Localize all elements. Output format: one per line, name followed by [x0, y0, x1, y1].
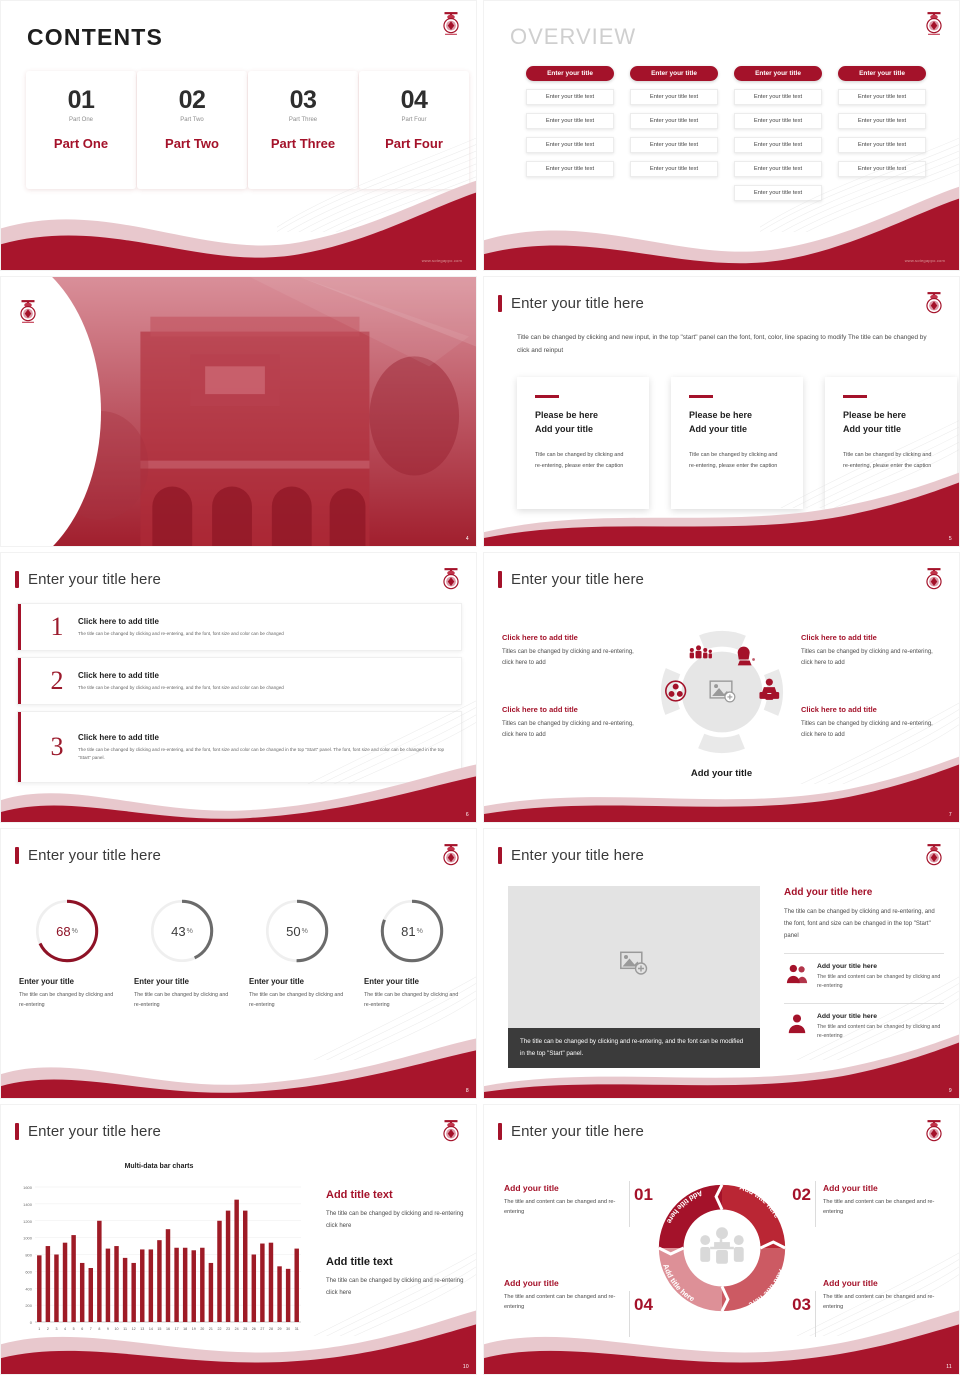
divider — [815, 1181, 816, 1227]
ring-item[interactable]: 43% Enter your title The title can be ch… — [134, 895, 230, 1011]
quadrant-desc: The title and content can be changed and… — [823, 1197, 941, 1217]
quadrant-title: Add your title — [504, 1183, 622, 1193]
card-number: 03 — [290, 88, 317, 113]
ring-desc: The title can be changed by clicking and… — [19, 991, 115, 1011]
ring-desc: The title can be changed by clicking and… — [134, 991, 230, 1011]
card-heading: Please be here Add your title — [843, 408, 939, 437]
svg-text:25: 25 — [243, 1327, 247, 1331]
card-heading: Please be here Add your title — [689, 408, 785, 437]
divider — [629, 1291, 630, 1337]
overview-item[interactable]: Enter your title text — [838, 161, 926, 177]
ring-value-wrap: 68% — [31, 895, 103, 967]
footer-url: www.sotegappo.com — [422, 258, 462, 263]
ring-title: Enter your title — [364, 977, 460, 986]
chart-side-panel: Add title text The title can be changed … — [326, 1189, 466, 1299]
card-label: Part Three — [271, 136, 335, 151]
callout-block[interactable]: Click here to add title Titles can be ch… — [502, 633, 642, 669]
page-title: Enter your title here — [511, 295, 644, 312]
slide-three-cards[interactable]: Enter your title here Title can be chang… — [483, 276, 960, 547]
person-icon — [786, 1013, 808, 1042]
svg-text:8: 8 — [98, 1327, 100, 1331]
title-accent-bar — [498, 571, 502, 588]
overview-column: Enter your title Enter your title text E… — [526, 66, 614, 201]
donut-diagram[interactable] — [653, 623, 791, 761]
footer-url: www.sotegappo.com — [905, 258, 945, 263]
callout-title: Click here to add title — [502, 633, 642, 642]
svg-text:1600: 1600 — [23, 1185, 33, 1190]
quadrant-text-04[interactable]: Add your title The title and content can… — [504, 1278, 622, 1312]
list-item-title: Add your title here — [817, 963, 944, 970]
progress-ring: 68% — [31, 895, 103, 967]
side-body-1: The title can be changed by clicking and… — [326, 1208, 466, 1232]
university-logo-icon — [440, 567, 462, 593]
slide-number: 10 — [463, 1364, 469, 1370]
page-header: Enter your title here — [498, 1123, 644, 1140]
slide-donut-diagram[interactable]: Enter your title here Click here to add … — [483, 552, 960, 823]
svg-text:18: 18 — [183, 1327, 187, 1331]
overview-item[interactable]: Enter your title text — [630, 113, 718, 129]
slide-numbered-list[interactable]: Enter your title here 1 Click here to ad… — [0, 552, 477, 823]
card-accent-dash — [535, 395, 559, 398]
title-accent-bar — [15, 847, 19, 864]
chart-plot-area: 0200400600800100012001400160012345678910… — [11, 1181, 307, 1338]
card-body: Title can be changed by clicking and re-… — [689, 450, 785, 471]
left-text-column: Click here to add title Titles can be ch… — [502, 633, 642, 777]
page-header: Enter your title here — [15, 571, 161, 588]
ring-value: 68 — [56, 924, 70, 939]
ring-desc: The title can be changed by clicking and… — [364, 991, 460, 1011]
page-header: Enter your title here — [15, 1123, 161, 1140]
list-number: 1 — [36, 615, 78, 638]
list-item-desc: The title can be changed by clicking and… — [78, 746, 451, 762]
overview-item[interactable]: Enter your title text — [734, 113, 822, 129]
list-item-desc: The title can be changed by clicking and… — [78, 684, 451, 692]
svg-text:16: 16 — [166, 1327, 170, 1331]
svg-text:14: 14 — [149, 1327, 153, 1331]
callout-desc: Titles can be changed by clicking and re… — [801, 719, 941, 741]
svg-text:10: 10 — [115, 1327, 119, 1331]
ring-value: 43 — [171, 924, 185, 939]
page-title: Enter your title here — [28, 571, 161, 588]
overview-item[interactable]: Enter your title text — [526, 89, 614, 105]
card-heading: Please be here Add your title — [535, 408, 631, 437]
ring-title: Enter your title — [249, 977, 345, 986]
overview-column: Enter your title Enter your title text E… — [734, 66, 822, 201]
svg-text:28: 28 — [269, 1327, 273, 1331]
slide-image-and-list[interactable]: Enter your title here The title can be c… — [483, 828, 960, 1099]
slide-grid: CONTENTS 01 Part One Part One 02 Part Tw… — [0, 0, 960, 1400]
list-item-title: Click here to add title — [78, 733, 451, 742]
svg-text:26: 26 — [252, 1327, 256, 1331]
card-subtitle: Part Four — [401, 117, 426, 123]
page-title: OVERVIEW — [510, 24, 636, 50]
callout-block[interactable]: Click here to add title Titles can be ch… — [801, 705, 941, 741]
university-logo-icon — [923, 291, 945, 317]
title-accent-bar — [15, 1123, 19, 1140]
callout-title: Click here to add title — [801, 705, 941, 714]
svg-text:22: 22 — [217, 1327, 221, 1331]
card-subtitle: Part Three — [289, 117, 317, 123]
quadrant-title: Add your title — [823, 1278, 941, 1288]
card-body: Title can be changed by clicking and re-… — [535, 450, 631, 471]
progress-ring: 81% — [376, 895, 448, 967]
overview-item[interactable]: Enter your title text — [838, 89, 926, 105]
slide-number: 9 — [949, 1088, 952, 1094]
list-item-desc: The title and content can be changed by … — [817, 1023, 944, 1042]
ring-unit: % — [72, 928, 78, 935]
two-people-icon — [786, 963, 808, 992]
ring-value: 81 — [401, 924, 415, 939]
slide-section-divider[interactable]: বনিতা বিশ্রাম 01 Part One ” Title can be… — [0, 276, 477, 547]
slide-number: 5 — [949, 536, 952, 542]
svg-text:800: 800 — [25, 1253, 32, 1258]
ring-value-wrap: 50% — [261, 895, 333, 967]
ring-item[interactable]: 68% Enter your title The title can be ch… — [19, 895, 115, 1011]
svg-text:0: 0 — [30, 1320, 33, 1325]
callout-title: Click here to add title — [502, 705, 642, 714]
list-item[interactable]: 2 Click here to add title The title can … — [17, 657, 462, 705]
page-header: Enter your title here — [498, 295, 644, 312]
list-item-desc: The title and content can be changed by … — [817, 973, 944, 992]
overview-item[interactable]: Enter your title text — [526, 137, 614, 153]
svg-text:30: 30 — [286, 1327, 290, 1331]
contents-card[interactable]: 01 Part One Part One — [26, 71, 136, 189]
quadrant-text-01[interactable]: Add your title The title and content can… — [504, 1183, 622, 1217]
svg-text:4: 4 — [64, 1327, 66, 1331]
university-logo-icon — [440, 11, 462, 37]
list-number: 2 — [36, 669, 78, 692]
slide-bar-chart[interactable]: Enter your title here Multi-data bar cha… — [0, 1104, 477, 1375]
svg-text:19: 19 — [192, 1327, 196, 1331]
ring-value-wrap: 81% — [376, 895, 448, 967]
contents-card[interactable]: 02 Part Two Part Two — [137, 71, 247, 189]
card-accent-dash — [843, 395, 867, 398]
intro-paragraph: Title can be changed by clicking and new… — [517, 332, 927, 358]
overview-item[interactable]: Enter your title text — [734, 161, 822, 177]
svg-text:23: 23 — [226, 1327, 230, 1331]
svg-text:6: 6 — [81, 1327, 83, 1331]
cycle-chart[interactable]: Add title here Add title here Add title … — [643, 1173, 801, 1323]
card-label: Part Two — [165, 136, 219, 151]
card-number: 01 — [68, 88, 95, 113]
svg-text:17: 17 — [175, 1327, 179, 1331]
slide-number: 8 — [466, 1088, 469, 1094]
svg-text:1200: 1200 — [23, 1219, 33, 1224]
svg-text:3: 3 — [55, 1327, 57, 1331]
callout-block[interactable]: Click here to add title Titles can be ch… — [502, 705, 642, 741]
slide-contents[interactable]: CONTENTS 01 Part One Part One 02 Part Tw… — [0, 0, 477, 271]
progress-ring: 43% — [146, 895, 218, 967]
slide-percentage-rings[interactable]: Enter your title here 68% Enter your tit… — [0, 828, 477, 1099]
list-item[interactable]: 3 Click here to add title The title can … — [17, 711, 462, 783]
image-caption-bar: The title can be changed by clicking and… — [508, 1028, 760, 1068]
card-body: Title can be changed by clicking and re-… — [843, 450, 939, 471]
contents-card[interactable]: 04 Part Four Part Four — [359, 71, 469, 189]
list-item[interactable]: Add your title here The title and conten… — [784, 1004, 944, 1042]
panel-body: The title can be changed by clicking and… — [784, 906, 944, 942]
svg-text:2: 2 — [47, 1327, 49, 1331]
quadrant-title: Add your title — [504, 1278, 622, 1288]
svg-text:15: 15 — [157, 1327, 161, 1331]
slide-overview[interactable]: OVERVIEW Enter your title Enter your tit… — [483, 0, 960, 271]
card-subtitle: Part Two — [180, 117, 204, 123]
card-label: Part Four — [385, 136, 443, 151]
ring-row: 68% Enter your title The title can be ch… — [19, 895, 460, 1011]
card-label: Part One — [54, 136, 108, 151]
page-title: Enter your title here — [28, 1123, 161, 1140]
svg-text:200: 200 — [25, 1303, 32, 1308]
card-accent-dash — [689, 395, 713, 398]
svg-text:600: 600 — [25, 1269, 32, 1274]
callout-desc: Titles can be changed by clicking and re… — [801, 647, 941, 669]
contents-card-row: 01 Part One Part One 02 Part Two Part Tw… — [26, 71, 469, 189]
overview-item[interactable]: Enter your title text — [734, 137, 822, 153]
column-title-button[interactable]: Enter your title — [630, 66, 718, 81]
column-title-button[interactable]: Enter your title — [838, 66, 926, 81]
list-number: 3 — [36, 735, 78, 758]
slide-cycle-diagram[interactable]: Enter your title here Add your title The… — [483, 1104, 960, 1375]
university-logo-icon — [440, 1119, 462, 1145]
title-accent-bar — [498, 1123, 502, 1140]
overview-item[interactable]: Enter your title text — [838, 113, 926, 129]
contents-card[interactable]: 03 Part Three Part Three — [248, 71, 358, 189]
svg-text:1400: 1400 — [23, 1202, 33, 1207]
title-accent-bar — [498, 295, 502, 312]
side-heading-1: Add title text — [326, 1189, 466, 1201]
list-item[interactable]: 1 Click here to add title The title can … — [17, 603, 462, 651]
svg-text:11: 11 — [123, 1327, 127, 1331]
info-card[interactable]: Please be here Add your title Title can … — [517, 377, 649, 509]
ring-value: 50 — [286, 924, 300, 939]
column-title-button[interactable]: Enter your title — [526, 66, 614, 81]
ring-unit: % — [187, 928, 193, 935]
overview-item[interactable]: Enter your title text — [630, 161, 718, 177]
ring-unit: % — [302, 928, 308, 935]
quadrant-desc: The title and content can be changed and… — [504, 1292, 622, 1312]
callout-desc: Titles can be changed by clicking and re… — [502, 719, 642, 741]
svg-text:29: 29 — [278, 1327, 282, 1331]
overview-item[interactable]: Enter your title text — [526, 113, 614, 129]
chart-title: Multi-data bar charts — [11, 1163, 307, 1170]
progress-ring: 50% — [261, 895, 333, 967]
quadrant-text-03[interactable]: Add your title The title and content can… — [823, 1278, 941, 1312]
svg-text:31: 31 — [295, 1327, 299, 1331]
svg-text:13: 13 — [140, 1327, 144, 1331]
ring-item[interactable]: 50% Enter your title The title can be ch… — [249, 895, 345, 1011]
list-item-title: Click here to add title — [78, 617, 451, 626]
slide-number: 4 — [466, 536, 469, 542]
ring-title: Enter your title — [134, 977, 230, 986]
donut-caption: Add your title — [484, 768, 959, 779]
svg-text:20: 20 — [200, 1327, 204, 1331]
svg-text:21: 21 — [209, 1327, 213, 1331]
divider — [629, 1181, 630, 1227]
column-title-button[interactable]: Enter your title — [734, 66, 822, 81]
callout-desc: Titles can be changed by clicking and re… — [502, 647, 642, 669]
divider — [815, 1291, 816, 1337]
svg-text:9: 9 — [107, 1327, 109, 1331]
overview-item[interactable]: Enter your title text — [734, 89, 822, 105]
page-title: Enter your title here — [511, 1123, 644, 1140]
overview-item[interactable]: Enter your title text — [526, 161, 614, 177]
title-accent-bar — [15, 571, 19, 588]
university-logo-icon — [923, 843, 945, 869]
card-subtitle: Part One — [69, 117, 93, 123]
right-panel: Add your title here The title can be cha… — [784, 887, 944, 1041]
panel-heading: Add your title here — [784, 887, 944, 898]
slide-number: 6 — [466, 812, 469, 818]
slide-number: 11 — [946, 1364, 952, 1370]
page-header: Enter your title here — [498, 847, 644, 864]
ring-title: Enter your title — [19, 977, 115, 986]
page-header: Enter your title here — [15, 847, 161, 864]
quadrant-title: Add your title — [823, 1183, 941, 1193]
add-image-icon — [620, 952, 648, 981]
university-logo-icon — [440, 843, 462, 869]
info-card[interactable]: Please be here Add your title Title can … — [825, 377, 957, 509]
list-rows: 1 Click here to add title The title can … — [17, 603, 462, 783]
page-title: Enter your title here — [28, 847, 161, 864]
svg-text:1: 1 — [38, 1327, 40, 1331]
overview-columns: Enter your title Enter your title text E… — [526, 66, 926, 201]
svg-text:24: 24 — [235, 1327, 239, 1331]
page-header: Enter your title here — [498, 571, 644, 588]
svg-text:7: 7 — [90, 1327, 92, 1331]
page-title: CONTENTS — [27, 24, 163, 51]
overview-column: Enter your title Enter your title text E… — [630, 66, 718, 201]
info-card[interactable]: Please be here Add your title Title can … — [671, 377, 803, 509]
svg-text:27: 27 — [260, 1327, 264, 1331]
callout-title: Click here to add title — [801, 633, 941, 642]
overview-column: Enter your title Enter your title text E… — [838, 66, 926, 201]
title-accent-bar — [498, 847, 502, 864]
university-logo-icon — [923, 1119, 945, 1145]
ring-desc: The title can be changed by clicking and… — [249, 991, 345, 1011]
side-heading-2: Add title text — [326, 1256, 466, 1268]
right-text-column: Click here to add title Titles can be ch… — [801, 633, 941, 777]
list-item-title: Click here to add title — [78, 671, 451, 680]
overview-item[interactable]: Enter your title text — [734, 185, 822, 201]
quadrant-desc: The title and content can be changed and… — [504, 1197, 622, 1217]
svg-text:12: 12 — [132, 1327, 136, 1331]
university-logo-icon — [923, 11, 945, 37]
quadrant-desc: The title and content can be changed and… — [823, 1292, 941, 1312]
list-item[interactable]: Add your title here The title and conten… — [784, 954, 944, 992]
quadrant-text-02[interactable]: Add your title The title and content can… — [823, 1183, 941, 1217]
card-number: 02 — [179, 88, 206, 113]
ring-unit: % — [417, 928, 423, 935]
page-title: Enter your title here — [511, 571, 644, 588]
callout-block[interactable]: Click here to add title Titles can be ch… — [801, 633, 941, 669]
card-number: 04 — [401, 88, 428, 113]
list-item-desc: The title can be changed by clicking and… — [78, 630, 451, 638]
overview-item[interactable]: Enter your title text — [838, 137, 926, 153]
overview-item[interactable]: Enter your title text — [630, 137, 718, 153]
slide-number: 7 — [949, 812, 952, 818]
svg-text:400: 400 — [25, 1286, 32, 1291]
list-item-title: Add your title here — [817, 1013, 944, 1020]
overview-item[interactable]: Enter your title text — [630, 89, 718, 105]
university-logo-icon — [923, 567, 945, 593]
svg-text:5: 5 — [73, 1327, 75, 1331]
svg-text:1000: 1000 — [23, 1236, 33, 1241]
university-logo-icon — [17, 299, 39, 325]
page-title: Enter your title here — [511, 847, 644, 864]
card-row: Please be here Add your title Title can … — [517, 377, 957, 509]
ring-value-wrap: 43% — [146, 895, 218, 967]
bar-chart[interactable]: Multi-data bar charts 020040060080010001… — [11, 1163, 307, 1338]
ring-item[interactable]: 81% Enter your title The title can be ch… — [364, 895, 460, 1011]
side-body-2: The title can be changed by clicking and… — [326, 1275, 466, 1299]
